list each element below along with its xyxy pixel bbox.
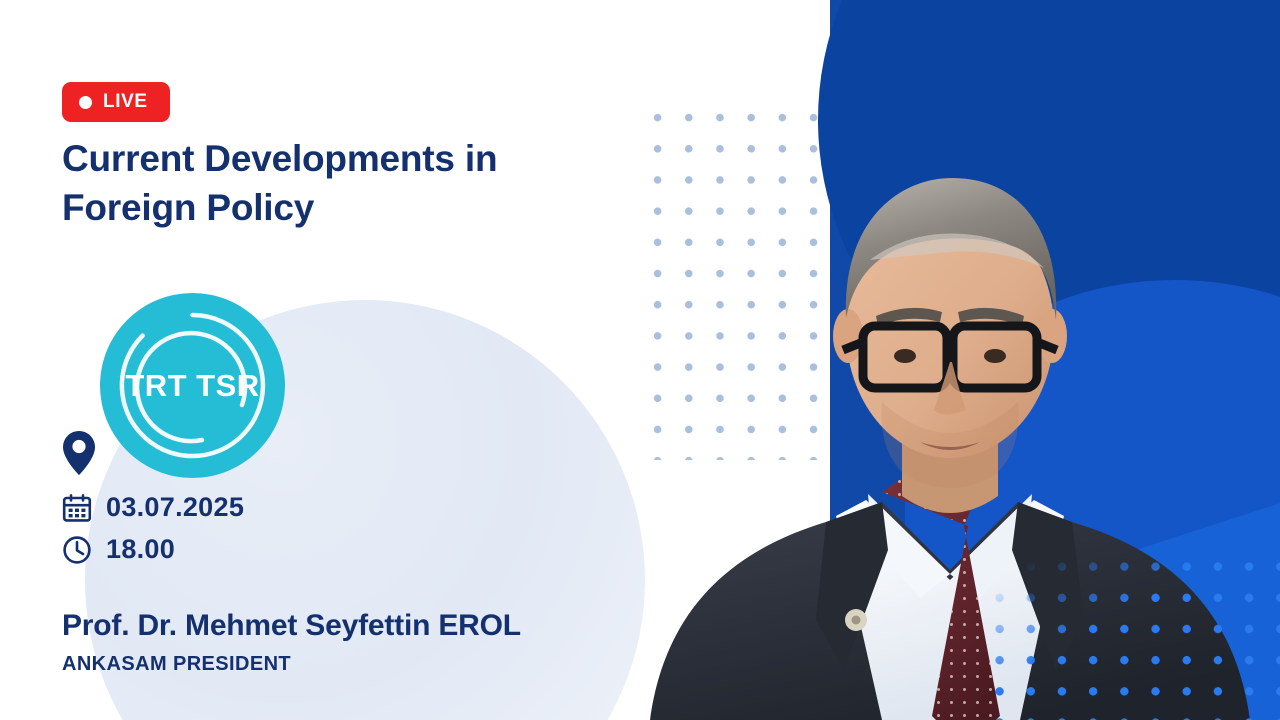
live-badge-label: LIVE bbox=[103, 91, 148, 113]
logo-text: TRT TSR bbox=[125, 368, 259, 403]
promo-banner: LIVE Current Developments in Foreign Pol… bbox=[0, 0, 1280, 720]
event-time-row: 18.00 bbox=[62, 534, 175, 565]
event-time: 18.00 bbox=[106, 534, 175, 565]
calendar-icon bbox=[62, 493, 92, 523]
speaker-role: ANKASAM PRESIDENT bbox=[62, 653, 622, 676]
content-column: LIVE Current Developments in Foreign Pol… bbox=[62, 0, 622, 720]
event-title: Current Developments in Foreign Policy bbox=[62, 135, 602, 233]
clock-icon bbox=[62, 535, 92, 565]
event-date: 03.07.2025 bbox=[106, 492, 244, 523]
dot-grid-bright-decoration bbox=[980, 545, 1280, 720]
speaker-name: Prof. Dr. Mehmet Seyfettin EROL bbox=[62, 609, 622, 643]
live-badge: LIVE bbox=[62, 82, 170, 122]
event-date-row: 03.07.2025 bbox=[62, 492, 244, 523]
trt-tsr-logo: TRT TSR bbox=[100, 293, 285, 478]
location-pin-icon bbox=[62, 430, 96, 476]
live-dot-icon bbox=[79, 96, 92, 109]
